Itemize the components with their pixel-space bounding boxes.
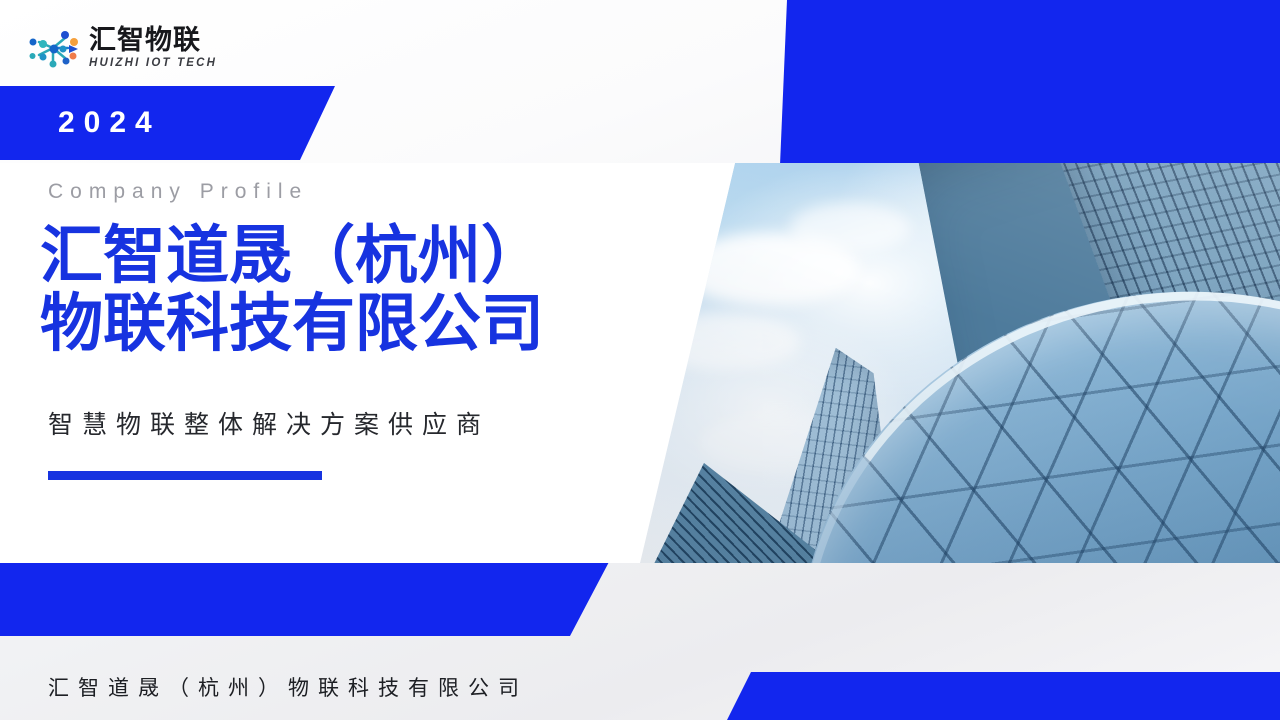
blue-shape-bottom-left: [0, 560, 610, 636]
eyebrow-label: Company Profile: [48, 180, 308, 204]
molecule-network-icon: [28, 27, 80, 69]
building-photo-inner: [640, 163, 1280, 563]
building-photo: [640, 163, 1280, 563]
page-title: 汇智道晟（杭州） 物联科技有限公司: [40, 222, 700, 358]
page-subtitle: 智慧物联整体解决方案供应商: [48, 405, 490, 441]
company-logo[interactable]: 汇智物联 HUIZHI IOT TECH: [28, 22, 238, 74]
footer-company-name: 汇智道晟（杭州）物联科技有限公司: [48, 672, 528, 702]
logo-english-name: HUIZHI IOT TECH: [89, 58, 217, 70]
blue-shape-footer: [725, 672, 1280, 720]
title-slide: 2024: [0, 0, 1280, 720]
title-underline-rule: [48, 471, 322, 480]
logo-text: 汇智物联 HUIZHI IOT TECH: [89, 27, 217, 70]
year-label: 2024: [58, 106, 161, 140]
year-ribbon: 2024: [0, 86, 335, 160]
photo-overlay: [640, 163, 1280, 563]
blue-shape-top-right: [780, 0, 1280, 165]
logo-chinese-name: 汇智物联: [89, 27, 217, 54]
